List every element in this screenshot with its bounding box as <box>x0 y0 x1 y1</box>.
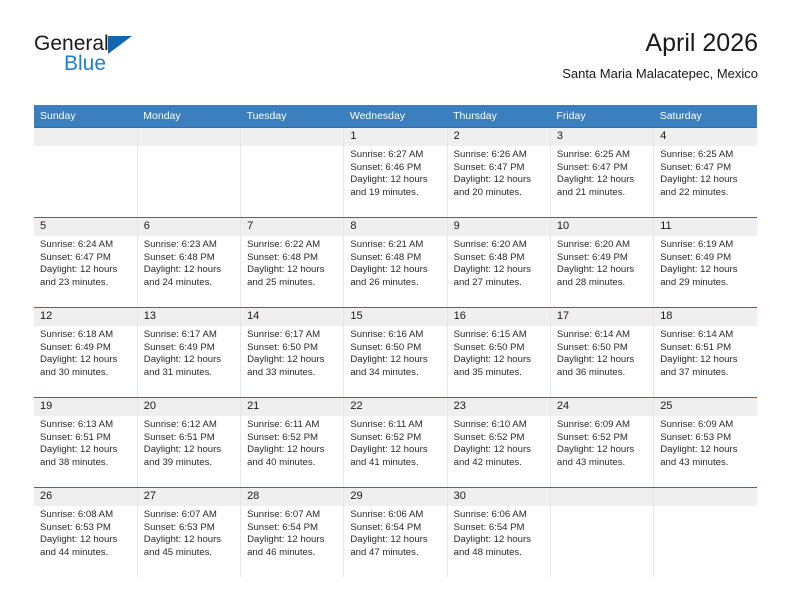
sunset-text: Sunset: 6:50 PM <box>247 342 337 355</box>
daylight-text-line2: and 27 minutes. <box>454 277 544 290</box>
sunrise-text: Sunrise: 6:25 AM <box>660 149 751 162</box>
daylight-text-line1: Daylight: 12 hours <box>40 264 131 277</box>
sunrise-text: Sunrise: 6:17 AM <box>247 329 337 342</box>
day-cell[interactable]: Sunrise: 6:16 AMSunset: 6:50 PMDaylight:… <box>344 326 447 397</box>
week-daynumber-row: 2627282930 <box>34 488 757 506</box>
daylight-text-line1: Daylight: 12 hours <box>350 264 440 277</box>
day-number[interactable]: 27 <box>137 488 240 506</box>
daylight-text-line2: and 47 minutes. <box>350 547 440 560</box>
day-cell-empty <box>654 506 757 577</box>
daylight-text-line1: Daylight: 12 hours <box>40 354 131 367</box>
day-number[interactable]: 19 <box>34 398 137 416</box>
daylight-text-line2: and 21 minutes. <box>557 187 647 200</box>
sunrise-text: Sunrise: 6:07 AM <box>144 509 234 522</box>
sunset-text: Sunset: 6:52 PM <box>350 432 440 445</box>
sunset-text: Sunset: 6:51 PM <box>660 342 751 355</box>
sunset-text: Sunset: 6:52 PM <box>454 432 544 445</box>
sunrise-text: Sunrise: 6:16 AM <box>350 329 440 342</box>
weekday-header-tuesday: Tuesday <box>241 105 344 127</box>
title-block: April 2026 Santa Maria Malacatepec, Mexi… <box>562 28 758 84</box>
day-cell[interactable]: Sunrise: 6:23 AMSunset: 6:48 PMDaylight:… <box>137 236 240 307</box>
day-number[interactable]: 30 <box>447 488 550 506</box>
daylight-text-line1: Daylight: 12 hours <box>144 354 234 367</box>
day-cell[interactable]: Sunrise: 6:27 AMSunset: 6:46 PMDaylight:… <box>344 146 447 217</box>
daylight-text-line1: Daylight: 12 hours <box>454 174 544 187</box>
page-subtitle: Santa Maria Malacatepec, Mexico <box>562 64 758 84</box>
day-cell[interactable]: Sunrise: 6:06 AMSunset: 6:54 PMDaylight:… <box>447 506 550 577</box>
daylight-text-line2: and 44 minutes. <box>40 547 131 560</box>
daylight-text-line2: and 40 minutes. <box>247 457 337 470</box>
sunrise-text: Sunrise: 6:06 AM <box>454 509 544 522</box>
sunrise-text: Sunrise: 6:21 AM <box>350 239 440 252</box>
daylight-text-line2: and 34 minutes. <box>350 367 440 380</box>
day-number[interactable]: 20 <box>137 398 240 416</box>
brand-name-blue: Blue <box>64 52 106 76</box>
day-cell-empty <box>137 146 240 217</box>
day-number[interactable]: 15 <box>344 308 447 326</box>
day-number-empty <box>241 128 344 146</box>
week-daynumber-row: 1234 <box>34 128 757 146</box>
weekday-header-sunday: Sunday <box>34 105 137 127</box>
day-number[interactable]: 2 <box>447 128 550 146</box>
sunset-text: Sunset: 6:53 PM <box>144 522 234 535</box>
daylight-text-line1: Daylight: 12 hours <box>660 174 751 187</box>
sunset-text: Sunset: 6:52 PM <box>247 432 337 445</box>
daylight-text-line2: and 41 minutes. <box>350 457 440 470</box>
page-header: General Blue April 2026 Santa Maria Mala… <box>34 28 758 94</box>
calendar-body: 1234Sunrise: 6:27 AMSunset: 6:46 PMDayli… <box>34 127 757 577</box>
daylight-text-line2: and 33 minutes. <box>247 367 337 380</box>
day-cell-empty <box>550 506 653 577</box>
sunset-text: Sunset: 6:47 PM <box>557 162 647 175</box>
daylight-text-line1: Daylight: 12 hours <box>350 174 440 187</box>
sunrise-text: Sunrise: 6:20 AM <box>454 239 544 252</box>
day-cell[interactable]: Sunrise: 6:14 AMSunset: 6:51 PMDaylight:… <box>654 326 757 397</box>
sunset-text: Sunset: 6:49 PM <box>557 252 647 265</box>
day-number-empty <box>137 128 240 146</box>
sunset-text: Sunset: 6:53 PM <box>40 522 131 535</box>
day-cell[interactable]: Sunrise: 6:09 AMSunset: 6:53 PMDaylight:… <box>654 416 757 487</box>
day-cell[interactable]: Sunrise: 6:18 AMSunset: 6:49 PMDaylight:… <box>34 326 137 397</box>
day-cell[interactable]: Sunrise: 6:07 AMSunset: 6:53 PMDaylight:… <box>137 506 240 577</box>
day-cell-empty <box>241 146 344 217</box>
daylight-text-line1: Daylight: 12 hours <box>454 264 544 277</box>
sunset-text: Sunset: 6:50 PM <box>557 342 647 355</box>
day-cell[interactable]: Sunrise: 6:25 AMSunset: 6:47 PMDaylight:… <box>550 146 653 217</box>
sunrise-text: Sunrise: 6:27 AM <box>350 149 440 162</box>
daylight-text-line2: and 38 minutes. <box>40 457 131 470</box>
sunset-text: Sunset: 6:48 PM <box>454 252 544 265</box>
sunset-text: Sunset: 6:51 PM <box>144 432 234 445</box>
day-number[interactable]: 5 <box>34 218 137 236</box>
day-number[interactable]: 29 <box>344 488 447 506</box>
daylight-text-line2: and 20 minutes. <box>454 187 544 200</box>
weekday-header-monday: Monday <box>137 105 240 127</box>
sunset-text: Sunset: 6:46 PM <box>350 162 440 175</box>
day-number[interactable]: 24 <box>550 398 653 416</box>
sunset-text: Sunset: 6:47 PM <box>454 162 544 175</box>
triangle-icon <box>108 36 132 54</box>
calendar-page: General Blue April 2026 Santa Maria Mala… <box>0 0 792 612</box>
sunrise-text: Sunrise: 6:19 AM <box>660 239 751 252</box>
daylight-text-line2: and 23 minutes. <box>40 277 131 290</box>
daylight-text-line1: Daylight: 12 hours <box>454 534 544 547</box>
sunset-text: Sunset: 6:48 PM <box>247 252 337 265</box>
day-number[interactable]: 1 <box>344 128 447 146</box>
sunrise-text: Sunrise: 6:14 AM <box>660 329 751 342</box>
daylight-text-line2: and 19 minutes. <box>350 187 440 200</box>
day-cell[interactable]: Sunrise: 6:24 AMSunset: 6:47 PMDaylight:… <box>34 236 137 307</box>
daylight-text-line1: Daylight: 12 hours <box>350 534 440 547</box>
daylight-text-line2: and 25 minutes. <box>247 277 337 290</box>
day-number[interactable]: 13 <box>137 308 240 326</box>
sunrise-text: Sunrise: 6:11 AM <box>350 419 440 432</box>
daylight-text-line1: Daylight: 12 hours <box>247 444 337 457</box>
day-cell[interactable]: Sunrise: 6:25 AMSunset: 6:47 PMDaylight:… <box>654 146 757 217</box>
brand-logo[interactable]: General Blue <box>34 32 234 88</box>
day-cell[interactable]: Sunrise: 6:11 AMSunset: 6:52 PMDaylight:… <box>344 416 447 487</box>
sunrise-text: Sunrise: 6:22 AM <box>247 239 337 252</box>
day-cell[interactable]: Sunrise: 6:19 AMSunset: 6:49 PMDaylight:… <box>654 236 757 307</box>
sunset-text: Sunset: 6:53 PM <box>660 432 751 445</box>
day-number[interactable]: 14 <box>241 308 344 326</box>
daylight-text-line2: and 28 minutes. <box>557 277 647 290</box>
sunrise-text: Sunrise: 6:15 AM <box>454 329 544 342</box>
day-cell[interactable]: Sunrise: 6:13 AMSunset: 6:51 PMDaylight:… <box>34 416 137 487</box>
day-number[interactable]: 4 <box>654 128 757 146</box>
week-daynumber-row: 567891011 <box>34 218 757 236</box>
day-number-empty <box>550 488 653 506</box>
sunset-text: Sunset: 6:48 PM <box>144 252 234 265</box>
day-cell[interactable]: Sunrise: 6:26 AMSunset: 6:47 PMDaylight:… <box>447 146 550 217</box>
sunset-text: Sunset: 6:47 PM <box>660 162 751 175</box>
day-cell[interactable]: Sunrise: 6:08 AMSunset: 6:53 PMDaylight:… <box>34 506 137 577</box>
daylight-text-line1: Daylight: 12 hours <box>454 354 544 367</box>
sunrise-text: Sunrise: 6:26 AM <box>454 149 544 162</box>
day-cell[interactable]: Sunrise: 6:17 AMSunset: 6:50 PMDaylight:… <box>241 326 344 397</box>
day-cell-empty <box>34 146 137 217</box>
day-cell[interactable]: Sunrise: 6:20 AMSunset: 6:49 PMDaylight:… <box>550 236 653 307</box>
day-number[interactable]: 22 <box>344 398 447 416</box>
daylight-text-line2: and 37 minutes. <box>660 367 751 380</box>
daylight-text-line1: Daylight: 12 hours <box>247 354 337 367</box>
sunrise-text: Sunrise: 6:24 AM <box>40 239 131 252</box>
sunrise-text: Sunrise: 6:25 AM <box>557 149 647 162</box>
day-cell[interactable]: Sunrise: 6:06 AMSunset: 6:54 PMDaylight:… <box>344 506 447 577</box>
sunset-text: Sunset: 6:54 PM <box>247 522 337 535</box>
day-number[interactable]: 8 <box>344 218 447 236</box>
day-number[interactable]: 28 <box>241 488 344 506</box>
sunrise-text: Sunrise: 6:12 AM <box>144 419 234 432</box>
day-number[interactable]: 11 <box>654 218 757 236</box>
day-number[interactable]: 12 <box>34 308 137 326</box>
daylight-text-line2: and 36 minutes. <box>557 367 647 380</box>
calendar-table: SundayMondayTuesdayWednesdayThursdayFrid… <box>34 105 757 577</box>
weekday-header-friday: Friday <box>550 105 653 127</box>
daylight-text-line2: and 30 minutes. <box>40 367 131 380</box>
day-cell[interactable]: Sunrise: 6:11 AMSunset: 6:52 PMDaylight:… <box>241 416 344 487</box>
sunset-text: Sunset: 6:49 PM <box>40 342 131 355</box>
daylight-text-line1: Daylight: 12 hours <box>557 264 647 277</box>
sunset-text: Sunset: 6:54 PM <box>350 522 440 535</box>
daylight-text-line1: Daylight: 12 hours <box>144 444 234 457</box>
day-number[interactable]: 16 <box>447 308 550 326</box>
week-daynumber-row: 19202122232425 <box>34 398 757 416</box>
daylight-text-line1: Daylight: 12 hours <box>350 444 440 457</box>
daylight-text-line2: and 42 minutes. <box>454 457 544 470</box>
day-number[interactable]: 18 <box>654 308 757 326</box>
page-title: April 2026 <box>562 28 758 58</box>
sunrise-text: Sunrise: 6:13 AM <box>40 419 131 432</box>
daylight-text-line2: and 45 minutes. <box>144 547 234 560</box>
sunset-text: Sunset: 6:51 PM <box>40 432 131 445</box>
sunset-text: Sunset: 6:54 PM <box>454 522 544 535</box>
day-cell[interactable]: Sunrise: 6:07 AMSunset: 6:54 PMDaylight:… <box>241 506 344 577</box>
sunrise-text: Sunrise: 6:07 AM <box>247 509 337 522</box>
sunset-text: Sunset: 6:48 PM <box>350 252 440 265</box>
daylight-text-line1: Daylight: 12 hours <box>454 444 544 457</box>
day-cell[interactable]: Sunrise: 6:09 AMSunset: 6:52 PMDaylight:… <box>550 416 653 487</box>
week-detail-row: Sunrise: 6:08 AMSunset: 6:53 PMDaylight:… <box>34 506 757 577</box>
day-number[interactable]: 21 <box>241 398 344 416</box>
daylight-text-line1: Daylight: 12 hours <box>40 444 131 457</box>
sunrise-text: Sunrise: 6:18 AM <box>40 329 131 342</box>
daylight-text-line1: Daylight: 12 hours <box>144 264 234 277</box>
daylight-text-line1: Daylight: 12 hours <box>660 444 751 457</box>
sunset-text: Sunset: 6:52 PM <box>557 432 647 445</box>
sunset-text: Sunset: 6:50 PM <box>350 342 440 355</box>
daylight-text-line1: Daylight: 12 hours <box>144 534 234 547</box>
day-cell[interactable]: Sunrise: 6:21 AMSunset: 6:48 PMDaylight:… <box>344 236 447 307</box>
week-detail-row: Sunrise: 6:24 AMSunset: 6:47 PMDaylight:… <box>34 236 757 307</box>
day-number-empty <box>34 128 137 146</box>
daylight-text-line2: and 46 minutes. <box>247 547 337 560</box>
day-number[interactable]: 9 <box>447 218 550 236</box>
day-cell[interactable]: Sunrise: 6:14 AMSunset: 6:50 PMDaylight:… <box>550 326 653 397</box>
sunrise-text: Sunrise: 6:09 AM <box>557 419 647 432</box>
day-number[interactable]: 17 <box>550 308 653 326</box>
daylight-text-line2: and 48 minutes. <box>454 547 544 560</box>
daylight-text-line1: Daylight: 12 hours <box>247 534 337 547</box>
weekday-header-saturday: Saturday <box>654 105 757 127</box>
daylight-text-line2: and 43 minutes. <box>660 457 751 470</box>
sunrise-text: Sunrise: 6:11 AM <box>247 419 337 432</box>
sunrise-text: Sunrise: 6:14 AM <box>557 329 647 342</box>
daylight-text-line2: and 35 minutes. <box>454 367 544 380</box>
sunset-text: Sunset: 6:50 PM <box>454 342 544 355</box>
sunrise-text: Sunrise: 6:23 AM <box>144 239 234 252</box>
day-number[interactable]: 10 <box>550 218 653 236</box>
daylight-text-line1: Daylight: 12 hours <box>557 174 647 187</box>
daylight-text-line2: and 22 minutes. <box>660 187 751 200</box>
daylight-text-line2: and 29 minutes. <box>660 277 751 290</box>
daylight-text-line1: Daylight: 12 hours <box>247 264 337 277</box>
day-number[interactable]: 7 <box>241 218 344 236</box>
week-detail-row: Sunrise: 6:13 AMSunset: 6:51 PMDaylight:… <box>34 416 757 487</box>
day-number[interactable]: 3 <box>550 128 653 146</box>
daylight-text-line2: and 39 minutes. <box>144 457 234 470</box>
daylight-text-line2: and 24 minutes. <box>144 277 234 290</box>
daylight-text-line2: and 26 minutes. <box>350 277 440 290</box>
sunset-text: Sunset: 6:49 PM <box>144 342 234 355</box>
daylight-text-line1: Daylight: 12 hours <box>350 354 440 367</box>
day-number-empty <box>654 488 757 506</box>
day-cell[interactable]: Sunrise: 6:12 AMSunset: 6:51 PMDaylight:… <box>137 416 240 487</box>
daylight-text-line1: Daylight: 12 hours <box>557 444 647 457</box>
day-cell[interactable]: Sunrise: 6:20 AMSunset: 6:48 PMDaylight:… <box>447 236 550 307</box>
day-cell[interactable]: Sunrise: 6:15 AMSunset: 6:50 PMDaylight:… <box>447 326 550 397</box>
week-daynumber-row: 12131415161718 <box>34 308 757 326</box>
day-number[interactable]: 26 <box>34 488 137 506</box>
sunrise-text: Sunrise: 6:20 AM <box>557 239 647 252</box>
daylight-text-line1: Daylight: 12 hours <box>40 534 131 547</box>
daylight-text-line1: Daylight: 12 hours <box>557 354 647 367</box>
sunset-text: Sunset: 6:49 PM <box>660 252 751 265</box>
weekday-header-thursday: Thursday <box>447 105 550 127</box>
day-number[interactable]: 23 <box>447 398 550 416</box>
day-cell[interactable]: Sunrise: 6:10 AMSunset: 6:52 PMDaylight:… <box>447 416 550 487</box>
day-cell[interactable]: Sunrise: 6:17 AMSunset: 6:49 PMDaylight:… <box>137 326 240 397</box>
day-cell[interactable]: Sunrise: 6:22 AMSunset: 6:48 PMDaylight:… <box>241 236 344 307</box>
daylight-text-line2: and 31 minutes. <box>144 367 234 380</box>
sunset-text: Sunset: 6:47 PM <box>40 252 131 265</box>
week-detail-row: Sunrise: 6:27 AMSunset: 6:46 PMDaylight:… <box>34 146 757 217</box>
sunrise-text: Sunrise: 6:06 AM <box>350 509 440 522</box>
daylight-text-line1: Daylight: 12 hours <box>660 354 751 367</box>
daylight-text-line2: and 43 minutes. <box>557 457 647 470</box>
weekday-header-wednesday: Wednesday <box>344 105 447 127</box>
week-detail-row: Sunrise: 6:18 AMSunset: 6:49 PMDaylight:… <box>34 326 757 397</box>
sunrise-text: Sunrise: 6:09 AM <box>660 419 751 432</box>
sunrise-text: Sunrise: 6:10 AM <box>454 419 544 432</box>
sunrise-text: Sunrise: 6:08 AM <box>40 509 131 522</box>
day-number[interactable]: 6 <box>137 218 240 236</box>
calendar-header-row: SundayMondayTuesdayWednesdayThursdayFrid… <box>34 105 757 127</box>
daylight-text-line1: Daylight: 12 hours <box>660 264 751 277</box>
day-number[interactable]: 25 <box>654 398 757 416</box>
sunrise-text: Sunrise: 6:17 AM <box>144 329 234 342</box>
